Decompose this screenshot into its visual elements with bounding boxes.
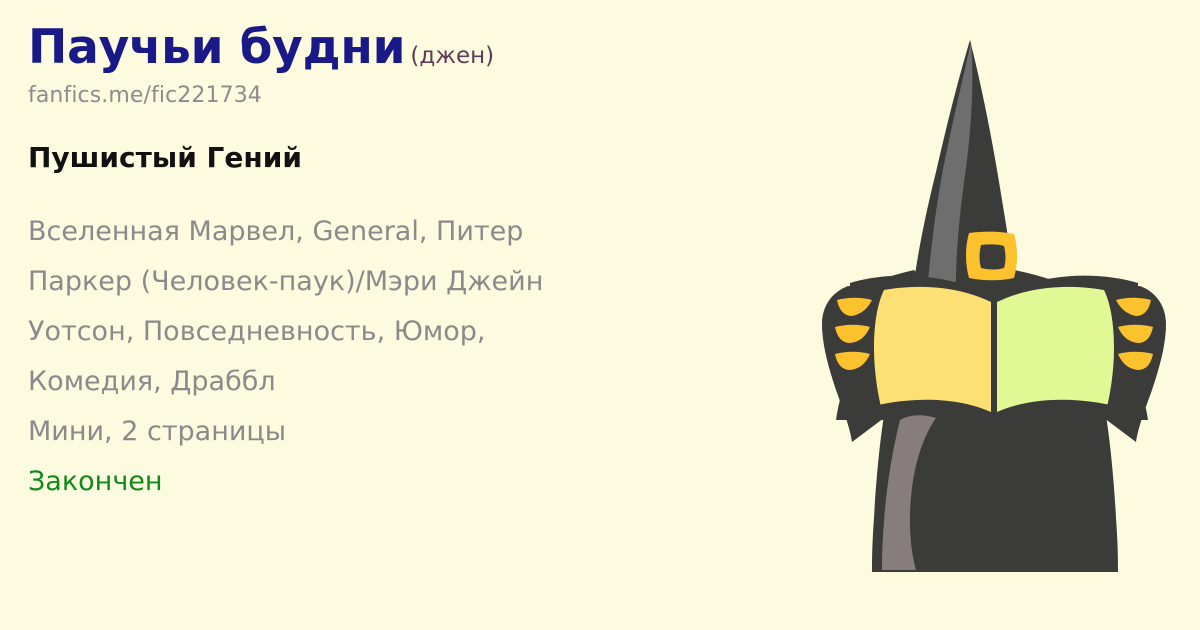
meta-line: Мини, 2 страницы — [28, 407, 828, 457]
open-book — [848, 276, 1140, 420]
title-row: Паучьи будни(джен) — [28, 24, 828, 71]
meta-line: Уотсон, Повседневность, Юмор, — [28, 307, 828, 357]
author-name: Пушистый Гений — [28, 143, 828, 174]
text-column: Паучьи будни(джен) fanfics.me/fic221734 … — [28, 24, 828, 507]
metadata-block: Вселенная Марвел, General, Питер Паркер … — [28, 207, 828, 507]
meta-line: Паркер (Человек-паук)/Мэри Джейн — [28, 257, 828, 307]
status-badge: Закончен — [28, 457, 828, 507]
lower-robe — [872, 405, 1118, 572]
hat-buckle-icon — [966, 232, 1017, 281]
witch-reading-book-illustration — [788, 0, 1200, 630]
fanfic-preview-card: Паучьи будни(джен) fanfics.me/fic221734 … — [0, 0, 1200, 630]
page-title: Паучьи будни — [28, 20, 405, 75]
fic-url[interactable]: fanfics.me/fic221734 — [28, 84, 828, 108]
fic-category-label: (джен) — [410, 43, 494, 69]
meta-line: Вселенная Марвел, General, Питер — [28, 207, 828, 257]
meta-line: Комедия, Драббл — [28, 357, 828, 407]
